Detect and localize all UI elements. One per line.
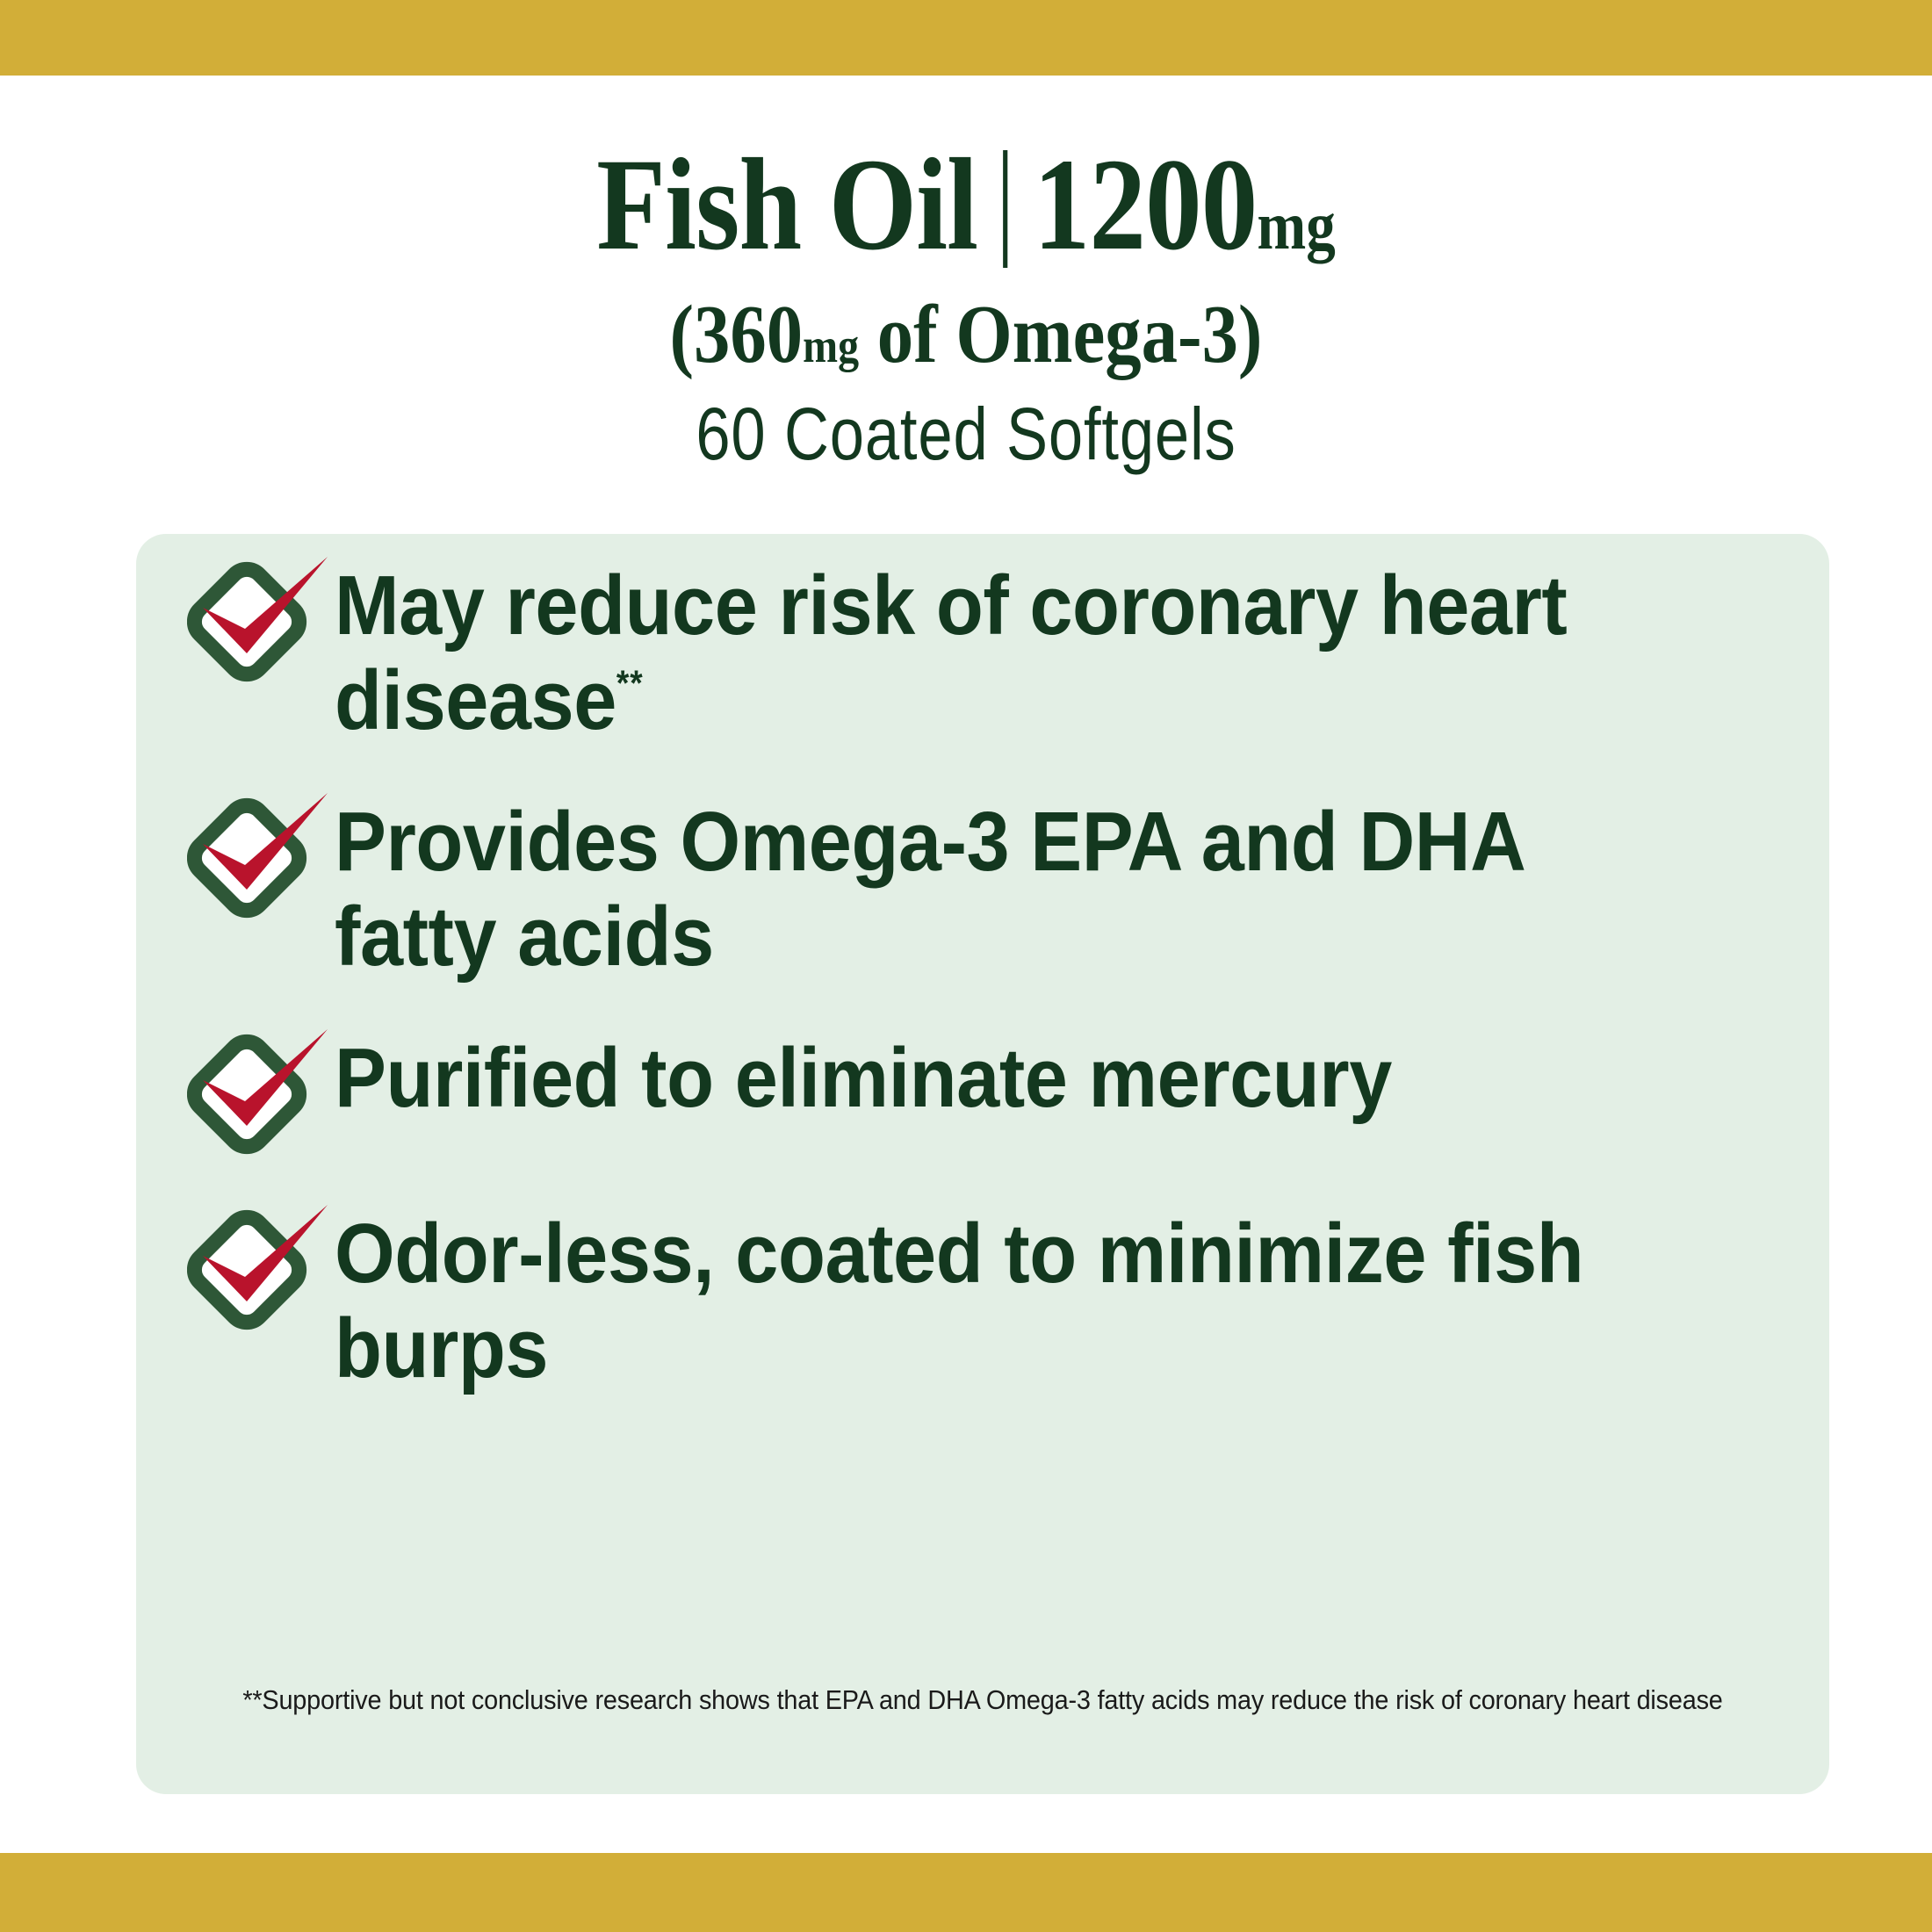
list-item: Odor-less, coated to minimize fish burps — [136, 1198, 1829, 1395]
footnote-marker: ** — [616, 662, 644, 703]
product-name: Fish Oil — [596, 132, 977, 278]
check-diamond-icon — [187, 1027, 335, 1159]
check-diamond-icon — [187, 555, 335, 687]
list-item: May reduce risk of coronary heart diseas… — [136, 550, 1829, 747]
disclaimer-footnote: **Supportive but not conclusive research… — [195, 1684, 1770, 1716]
benefit-text-main: Odor-less, coated to minimize fish burps — [335, 1207, 1583, 1395]
benefit-label: May reduce risk of coronary heart diseas… — [335, 550, 1677, 747]
page-title: Fish Oil1200mg — [135, 139, 1797, 270]
benefit-text-main: Purified to eliminate mercury — [335, 1031, 1392, 1125]
check-diamond-icon — [187, 1203, 335, 1335]
top-gold-bar — [0, 0, 1932, 76]
softgel-count: 60 Coated Softgels — [155, 397, 1777, 471]
bottom-gold-bar — [0, 1853, 1932, 1932]
product-benefits-graphic: Fish Oil1200mg (360mg of Omega-3) 60 Coa… — [0, 0, 1932, 1932]
list-item: Provides Omega-3 EPA and DHA fatty acids — [136, 786, 1829, 984]
check-diamond-icon — [187, 791, 335, 923]
benefit-text-main: Provides Omega-3 EPA and DHA fatty acids — [335, 795, 1523, 984]
strength-value: 1200 — [1034, 132, 1258, 278]
benefit-label: Odor-less, coated to minimize fish burps — [335, 1198, 1677, 1395]
benefit-text-main: May reduce risk of coronary heart diseas… — [335, 559, 1567, 747]
benefits-panel: May reduce risk of coronary heart diseas… — [136, 534, 1829, 1794]
omega-subtitle: (360mg of Omega-3) — [116, 293, 1816, 376]
list-item: Purified to eliminate mercury — [136, 1022, 1829, 1159]
subtitle-unit: mg — [803, 319, 859, 372]
benefit-list: May reduce risk of coronary heart diseas… — [136, 550, 1829, 1434]
strength-unit: mg — [1257, 187, 1335, 263]
subtitle-value: 360 — [694, 289, 803, 380]
title-divider-rule — [1003, 150, 1007, 268]
subtitle-rest: of Omega-3) — [859, 289, 1262, 380]
subtitle-open-paren: ( — [669, 289, 694, 380]
header-block: Fish Oil1200mg (360mg of Omega-3) 60 Coa… — [0, 76, 1932, 471]
benefit-label: Purified to eliminate mercury — [335, 1022, 1677, 1126]
benefit-label: Provides Omega-3 EPA and DHA fatty acids — [335, 786, 1677, 984]
